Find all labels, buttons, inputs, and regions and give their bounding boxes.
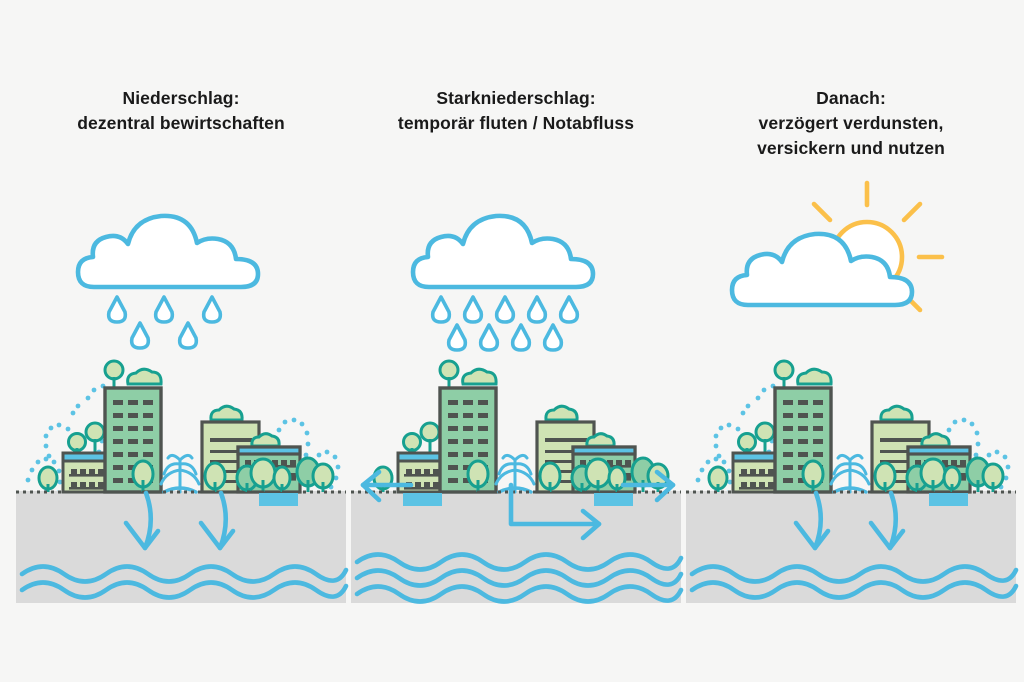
raindrop-icon [156,297,173,322]
city-skyline [39,361,333,492]
raindrop-icon [513,325,530,350]
tree-icon [374,467,392,492]
sun-ray [904,204,920,220]
raindrop-icon [465,297,482,322]
raindrop-icon [545,325,562,350]
city-ground-scene-2 [351,352,681,607]
panel-heavy-rain: Starkniederschlag: temporär fluten / Not… [351,0,681,682]
retention-basin [594,493,633,506]
tree-icon [775,361,793,390]
city-skyline [374,361,668,492]
tree-icon [421,423,439,456]
city-skyline [709,361,1003,492]
cloud-icon [413,216,593,287]
raindrops-group [109,297,221,348]
raindrop-icon [497,297,514,322]
weather-icon-heavy-rain-cloud [351,175,681,355]
tree-icon [105,361,123,390]
raindrop-icon [481,325,498,350]
raindrop-icon [180,323,197,348]
tree-icon [440,361,458,390]
raindrop-icon [529,297,546,322]
retention-basin [929,493,968,506]
sun-ray [814,204,830,220]
raindrops-group [433,297,578,350]
city-ground-scene-3 [686,352,1016,607]
underground-block [16,491,346,603]
panel-title-heavy-rain: Starkniederschlag: temporär fluten / Not… [351,86,681,136]
tree-icon [39,467,57,492]
panel-title-precipitation: Niederschlag: dezentral bewirtschaften [16,86,346,136]
city-ground-scene-1 [16,352,346,607]
panel-title-after: Danach: verzögert verdunsten, versickern… [686,86,1016,161]
raindrop-icon [109,297,126,322]
tree-icon [756,423,774,456]
cloud-icon [78,216,258,287]
raindrop-icon [449,325,466,350]
weather-icon-sun-behind-cloud [686,175,1016,355]
tree-icon [86,423,104,456]
panel-precipitation: Niederschlag: dezentral bewirtschaften [16,0,346,682]
tree-icon [709,467,727,492]
panel-after: Danach: verzögert verdunsten, versickern… [686,0,1016,682]
weather-icon-rain-cloud [16,175,346,355]
infographic-board: Niederschlag: dezentral bewirtschaften [0,0,1024,682]
raindrop-icon [204,297,221,322]
raindrop-icon [561,297,578,322]
fountain-icon [831,455,869,492]
retention-basin [403,493,442,506]
fountain-icon [161,455,199,492]
underground-block [686,491,1016,603]
fountain-icon [496,455,534,492]
retention-basin [259,493,298,506]
raindrop-icon [433,297,450,322]
raindrop-icon [132,323,149,348]
